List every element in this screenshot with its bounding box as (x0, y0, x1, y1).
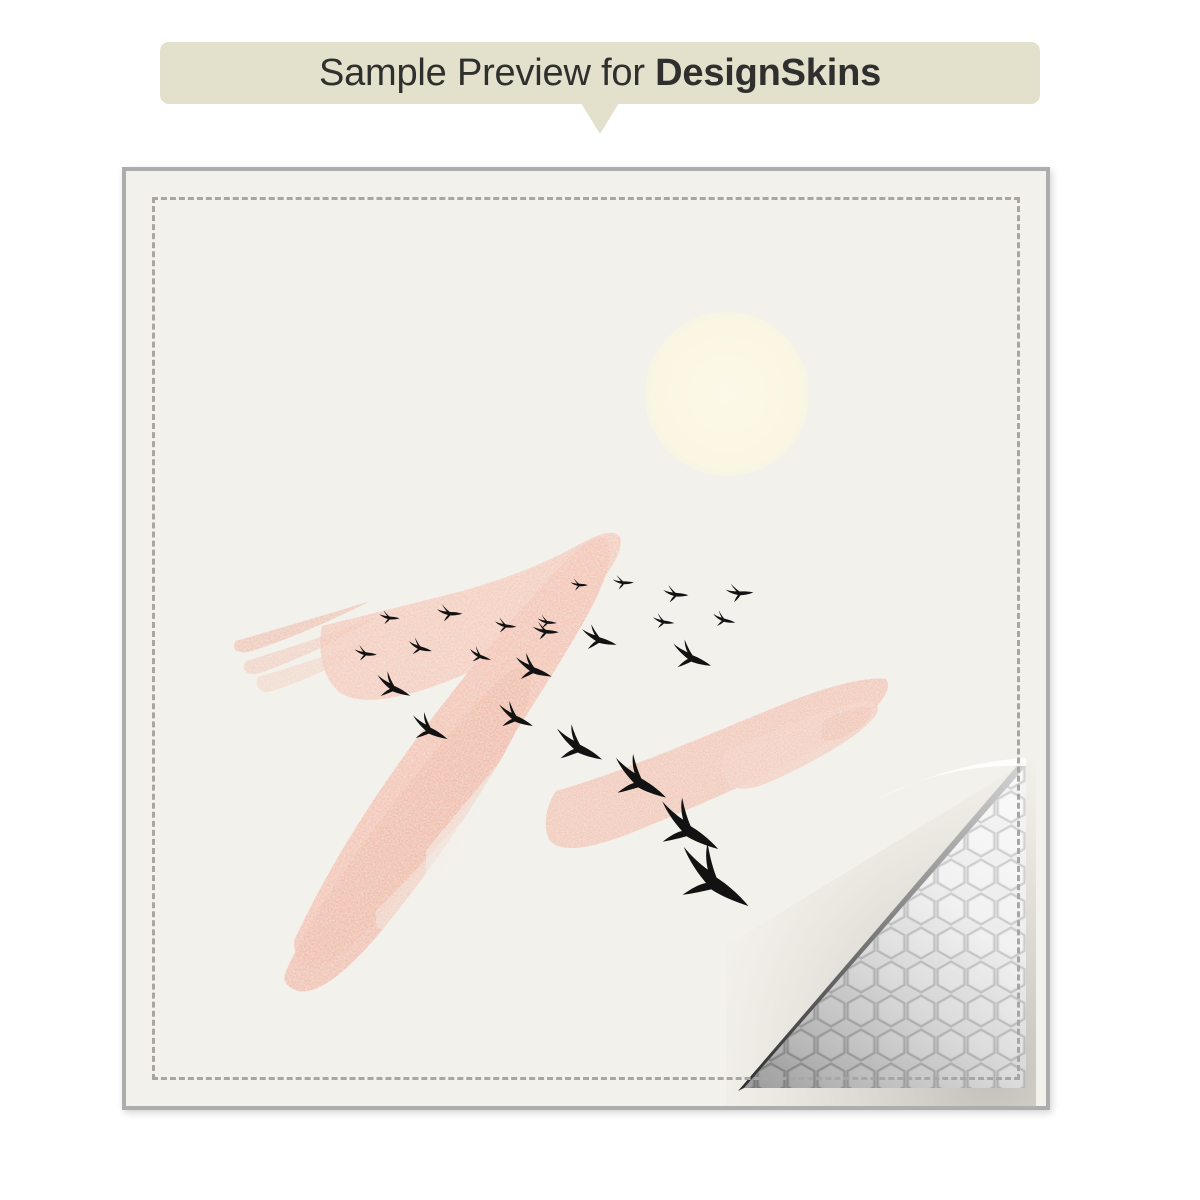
sun-icon (645, 312, 809, 476)
sticker-preview-canvas (122, 167, 1050, 1110)
peeling-corner (726, 756, 1046, 1106)
brush-stroke-left (234, 533, 621, 992)
banner-label: Sample Preview for DesignSkins (319, 54, 881, 92)
banner-pointer-icon (581, 103, 619, 134)
banner-label-brand: DesignSkins (655, 52, 881, 94)
banner-label-plain: Sample Preview for (319, 52, 655, 94)
banner-body: Sample Preview for DesignSkins (160, 42, 1040, 104)
preview-banner: Sample Preview for DesignSkins (160, 42, 1040, 104)
